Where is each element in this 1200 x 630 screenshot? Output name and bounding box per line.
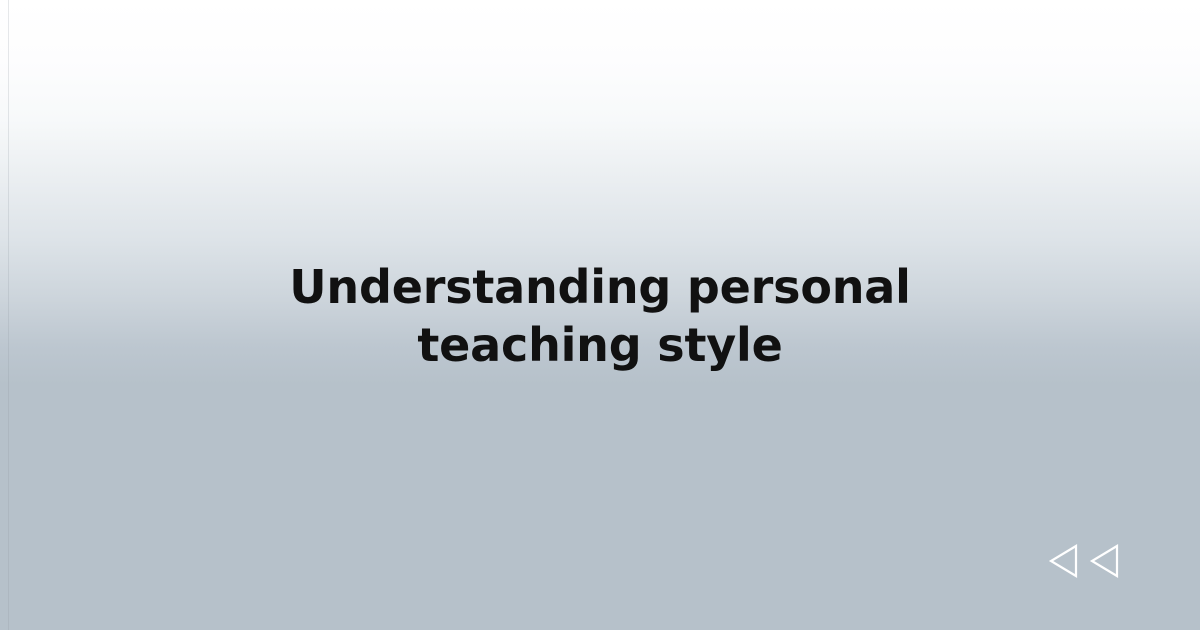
page-title: Understanding personal teaching style xyxy=(185,258,1015,374)
navigation-controls[interactable] xyxy=(1046,542,1123,580)
title-block: Understanding personal teaching style xyxy=(0,258,1200,374)
slide-canvas: Understanding personal teaching style xyxy=(0,0,1200,630)
triangle-left-icon-2[interactable] xyxy=(1087,542,1123,580)
triangle-left-icon[interactable] xyxy=(1046,542,1082,580)
